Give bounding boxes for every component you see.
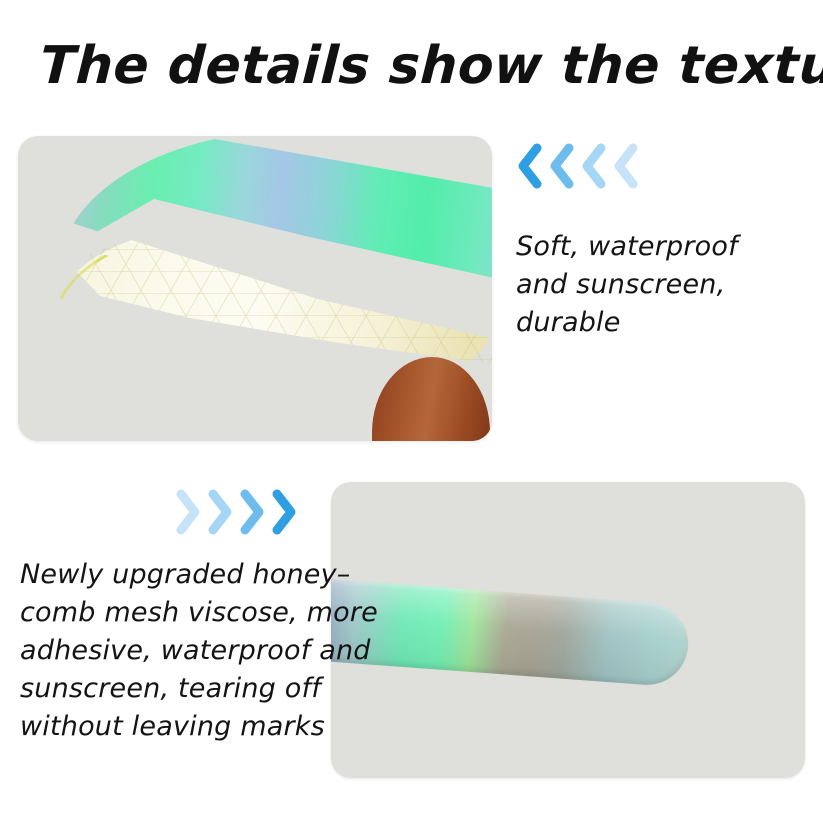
tape-loop-illustration bbox=[18, 136, 492, 441]
chevron-right-icon bbox=[172, 489, 202, 535]
chevron-right-icon bbox=[268, 489, 298, 535]
holographic-tape-loop-photo bbox=[18, 136, 492, 441]
chevron-left-icon bbox=[578, 143, 608, 189]
caption-line: durable bbox=[516, 304, 816, 342]
chevron-right-icon bbox=[204, 489, 234, 535]
caption-line: Newly upgraded honey– bbox=[20, 556, 322, 594]
chevron-right-icon bbox=[236, 489, 266, 535]
chevron-left-icon bbox=[546, 143, 576, 189]
tape-strip-illustration bbox=[331, 579, 691, 688]
caption-line: comb mesh viscose, more bbox=[20, 594, 322, 632]
caption-line: and sunscreen, bbox=[516, 266, 816, 304]
chevron-left-icon bbox=[514, 143, 544, 189]
caption-bottom: Newly upgraded honey– comb mesh viscose,… bbox=[20, 556, 322, 746]
chevron-group-left bbox=[514, 143, 642, 189]
chevron-group-right bbox=[172, 489, 300, 535]
caption-line: adhesive, waterproof and bbox=[20, 632, 322, 670]
holographic-tape-strip-photo bbox=[331, 482, 805, 778]
caption-line: without leaving marks bbox=[20, 708, 322, 746]
page-title: The details show the texture bbox=[38, 36, 801, 96]
caption-line: sunscreen, tearing off bbox=[20, 670, 322, 708]
caption-line: Soft, waterproof bbox=[516, 228, 816, 266]
chevron-left-icon bbox=[610, 143, 640, 189]
caption-top: Soft, waterproof and sunscreen, durable bbox=[516, 228, 816, 342]
tape-strip-sheen bbox=[331, 579, 691, 688]
